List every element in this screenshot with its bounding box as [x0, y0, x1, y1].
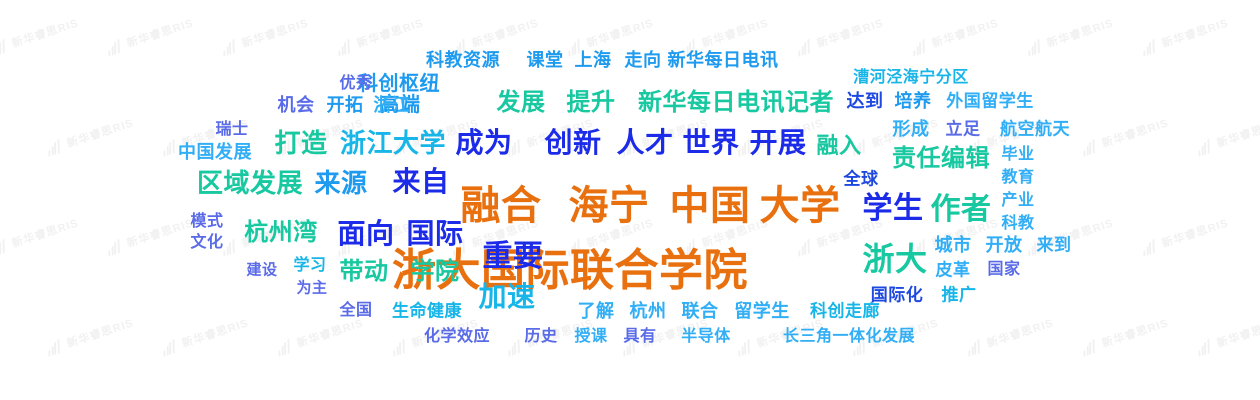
wordcloud-word[interactable]: 化学效应 [424, 329, 490, 345]
wordcloud-word[interactable]: 文化 [190, 235, 223, 251]
wordcloud-word[interactable]: 国际 [406, 220, 463, 248]
wordcloud-word[interactable]: 立足 [946, 121, 981, 138]
watermark-tile: 新华睿思RIS [105, 14, 196, 57]
bar-logo-icon [1080, 338, 1100, 356]
wordcloud-word[interactable]: 浙江 [374, 96, 411, 114]
watermark-text: 新华睿思RIS [585, 14, 656, 51]
wordcloud-word[interactable]: 来到 [1037, 237, 1072, 254]
wordcloud-word[interactable]: 培养 [895, 92, 932, 110]
bar-logo-icon [1195, 338, 1215, 356]
bar-logo-icon [335, 38, 355, 56]
wordcloud-word[interactable]: 具有 [623, 329, 656, 345]
wordcloud-word[interactable]: 上海 [575, 51, 612, 69]
wordcloud-word[interactable]: 中国 [670, 186, 751, 226]
wordcloud-word[interactable]: 人才 [616, 129, 673, 157]
wordcloud-word[interactable]: 国际化 [871, 287, 924, 304]
watermark-text: 新华睿思RIS [240, 14, 311, 51]
wordcloud-word[interactable]: 融入 [816, 135, 861, 157]
wordcloud-word[interactable]: 新华每日电讯记者 [638, 91, 834, 115]
watermark-tile: 新华睿思RIS [335, 14, 426, 57]
watermark-tile: 新华睿思RIS [0, 214, 81, 257]
wordcloud-word[interactable]: 瑞士 [215, 122, 248, 138]
wordcloud-word[interactable]: 提升 [567, 91, 616, 115]
wordcloud-word[interactable]: 区域发展 [197, 170, 303, 196]
wordcloud-word[interactable]: 新华每日电讯 [668, 51, 779, 69]
watermark-text: 新华睿思RIS [10, 214, 81, 251]
bar-logo-icon [735, 338, 755, 356]
bar-logo-icon [0, 38, 10, 56]
watermark-text: 新华睿思RIS [1215, 114, 1260, 151]
wordcloud-word[interactable]: 了解 [578, 302, 615, 320]
wordcloud-word[interactable]: 为主 [296, 281, 327, 296]
wordcloud-word[interactable]: 责任编辑 [892, 147, 990, 171]
bar-logo-icon [45, 138, 65, 156]
watermark-text: 新华睿思RIS [1100, 314, 1171, 351]
wordcloud-word[interactable]: 生命健康 [392, 303, 462, 320]
watermark-tile: 新华睿思RIS [1080, 314, 1171, 357]
watermark-tile: 新华睿思RIS [45, 114, 136, 157]
wordcloud-word[interactable]: 来自 [392, 168, 449, 196]
wordcloud-word[interactable]: 发展 [497, 91, 546, 115]
wordcloud-word[interactable]: 科教资源 [426, 51, 500, 69]
watermark-tile: 新华睿思RIS [275, 314, 366, 357]
wordcloud-word[interactable]: 学习 [293, 258, 326, 274]
wordcloud-word[interactable]: 带动 [340, 260, 389, 284]
wordcloud-word[interactable]: 作者 [931, 195, 992, 225]
bar-logo-icon [105, 38, 125, 56]
wordcloud-word[interactable]: 联合 [682, 302, 719, 320]
bar-logo-icon [220, 38, 240, 56]
watermark-tile: 新华睿思RIS [1140, 14, 1231, 57]
watermark-tile: 新华睿思RIS [910, 14, 1001, 57]
wordcloud-word[interactable]: 面向 [337, 220, 394, 248]
watermark-text: 新华睿思RIS [125, 14, 196, 51]
wordcloud-word[interactable]: 城市 [935, 236, 972, 254]
wordcloud-word[interactable]: 外国留学生 [946, 93, 1034, 110]
bar-logo-icon [0, 238, 10, 256]
wordcloud-word[interactable]: 重要 [483, 242, 544, 272]
bar-logo-icon [965, 338, 985, 356]
watermark-text: 新华睿思RIS [65, 114, 136, 151]
wordcloud-word[interactable]: 航空航天 [1000, 121, 1070, 138]
bar-logo-icon [1140, 238, 1160, 256]
bar-logo-icon [910, 38, 930, 56]
watermark-tile: 新华睿思RIS [0, 14, 81, 57]
wordcloud-word[interactable]: 半导体 [681, 329, 731, 345]
watermark-text: 新华睿思RIS [355, 14, 426, 51]
watermark-tile: 新华睿思RIS [105, 214, 196, 257]
watermark-tile: 新华睿思RIS [1195, 314, 1260, 357]
wordcloud-word[interactable]: 科创走廊 [810, 303, 880, 320]
wordcloud-word[interactable]: 产业 [1001, 193, 1034, 209]
watermark-text: 新华睿思RIS [1215, 314, 1260, 351]
wordcloud-word[interactable]: 历史 [524, 329, 557, 345]
wordcloud-word[interactable]: 学院 [411, 260, 460, 284]
bar-logo-icon [390, 338, 410, 356]
watermark-text: 新华睿思RIS [470, 14, 541, 51]
wordcloud-word[interactable]: 长三角一体化发展 [783, 329, 915, 345]
wordcloud-word[interactable]: 毕业 [1001, 147, 1034, 163]
wordcloud-word[interactable]: 达到 [847, 92, 884, 110]
wordcloud-word[interactable]: 模式 [190, 214, 223, 230]
bar-logo-icon [795, 38, 815, 56]
wordcloud-word[interactable]: 浙江大学 [340, 130, 446, 156]
wordcloud-word[interactable]: 创新 [544, 129, 601, 157]
wordcloud-word[interactable]: 杭州 [630, 302, 667, 320]
watermark-tile: 新华睿思RIS [45, 314, 136, 357]
bar-logo-icon [795, 238, 815, 256]
wordcloud-word[interactable]: 教育 [1001, 170, 1034, 186]
wordcloud-word[interactable]: 学生 [863, 194, 924, 224]
wordcloud-word[interactable]: 全球 [844, 171, 879, 188]
bar-logo-icon [505, 338, 525, 356]
watermark-text: 新华睿思RIS [295, 314, 366, 351]
wordcloud-word[interactable]: 授课 [574, 329, 607, 345]
wordcloud-word[interactable]: 开拓 [327, 96, 364, 114]
bar-logo-icon [1080, 138, 1100, 156]
watermark-text: 新华睿思RIS [930, 14, 1001, 51]
wordcloud-word[interactable]: 海宁 [569, 186, 650, 226]
watermark-tile: 新华睿思RIS [1080, 114, 1171, 157]
bar-logo-icon [160, 138, 180, 156]
watermark-tile: 新华睿思RIS [1025, 14, 1116, 57]
watermark-text: 新华睿思RIS [815, 14, 886, 51]
wordcloud-word[interactable]: 加速 [478, 283, 535, 311]
wordcloud-word[interactable]: 走向 [625, 51, 662, 69]
wordcloud-word[interactable]: 大学 [760, 186, 841, 226]
watermark-text: 新华睿思RIS [985, 314, 1056, 351]
bar-logo-icon [160, 338, 180, 356]
watermark-text: 新华睿思RIS [1045, 14, 1116, 51]
wordcloud-word[interactable]: 中国发展 [178, 143, 252, 161]
watermark-text: 新华睿思RIS [700, 14, 771, 51]
wordcloud-canvas: 新华睿思RIS新华睿思RIS新华睿思RIS新华睿思RIS新华睿思RIS新华睿思R… [0, 0, 1260, 400]
watermark-tile: 新华睿思RIS [1140, 214, 1231, 257]
wordcloud-word[interactable]: 成为 [455, 129, 512, 157]
wordcloud-word[interactable]: 全国 [339, 303, 372, 319]
watermark-tile: 新华睿思RIS [965, 314, 1056, 357]
bar-logo-icon [45, 338, 65, 356]
watermark-tile: 新华睿思RIS [160, 314, 251, 357]
wordcloud-word[interactable]: 国家 [987, 262, 1020, 278]
bar-logo-icon [1195, 138, 1215, 156]
watermark-text: 新华睿思RIS [1100, 114, 1171, 151]
watermark-text: 新华睿思RIS [65, 314, 136, 351]
wordcloud-word[interactable]: 来源 [314, 170, 367, 196]
wordcloud-word[interactable]: 留学生 [734, 302, 790, 320]
watermark-tile: 新华睿思RIS [795, 14, 886, 57]
wordcloud-word[interactable]: 科教 [1001, 216, 1034, 232]
wordcloud-word[interactable]: 皮革 [936, 262, 971, 279]
watermark-tile: 新华睿思RIS [1195, 114, 1260, 157]
wordcloud-word[interactable]: 打造 [274, 130, 327, 156]
bar-logo-icon [105, 238, 125, 256]
wordcloud-word[interactable]: 开放 [986, 236, 1023, 254]
watermark-tile: 新华睿思RIS [220, 14, 311, 57]
wordcloud-word[interactable]: 世界 [682, 129, 739, 157]
wordcloud-word[interactable]: 推广 [942, 287, 977, 304]
wordcloud-word[interactable]: 课堂 [527, 51, 564, 69]
bar-logo-icon [275, 338, 295, 356]
bar-logo-icon [1025, 38, 1045, 56]
wordcloud-word[interactable]: 形成 [893, 120, 930, 138]
watermark-text: 新华睿思RIS [1160, 14, 1231, 51]
watermark-text: 新华睿思RIS [10, 14, 81, 51]
wordcloud-word[interactable]: 建设 [246, 263, 277, 278]
wordcloud-word[interactable]: 机会 [278, 96, 315, 114]
wordcloud-word[interactable]: 开展 [749, 129, 806, 157]
wordcloud-word[interactable]: 漕河泾海宁分区 [853, 70, 969, 86]
wordcloud-word[interactable]: 浙大 [862, 243, 927, 275]
watermark-text: 新华睿思RIS [180, 314, 251, 351]
wordcloud-word[interactable]: 优秀 [339, 76, 372, 92]
bar-logo-icon [1140, 38, 1160, 56]
wordcloud-word[interactable]: 杭州湾 [244, 221, 318, 245]
wordcloud-word[interactable]: 融合 [461, 186, 542, 226]
watermark-text: 新华睿思RIS [1160, 214, 1231, 251]
watermark-text: 新华睿思RIS [125, 214, 196, 251]
